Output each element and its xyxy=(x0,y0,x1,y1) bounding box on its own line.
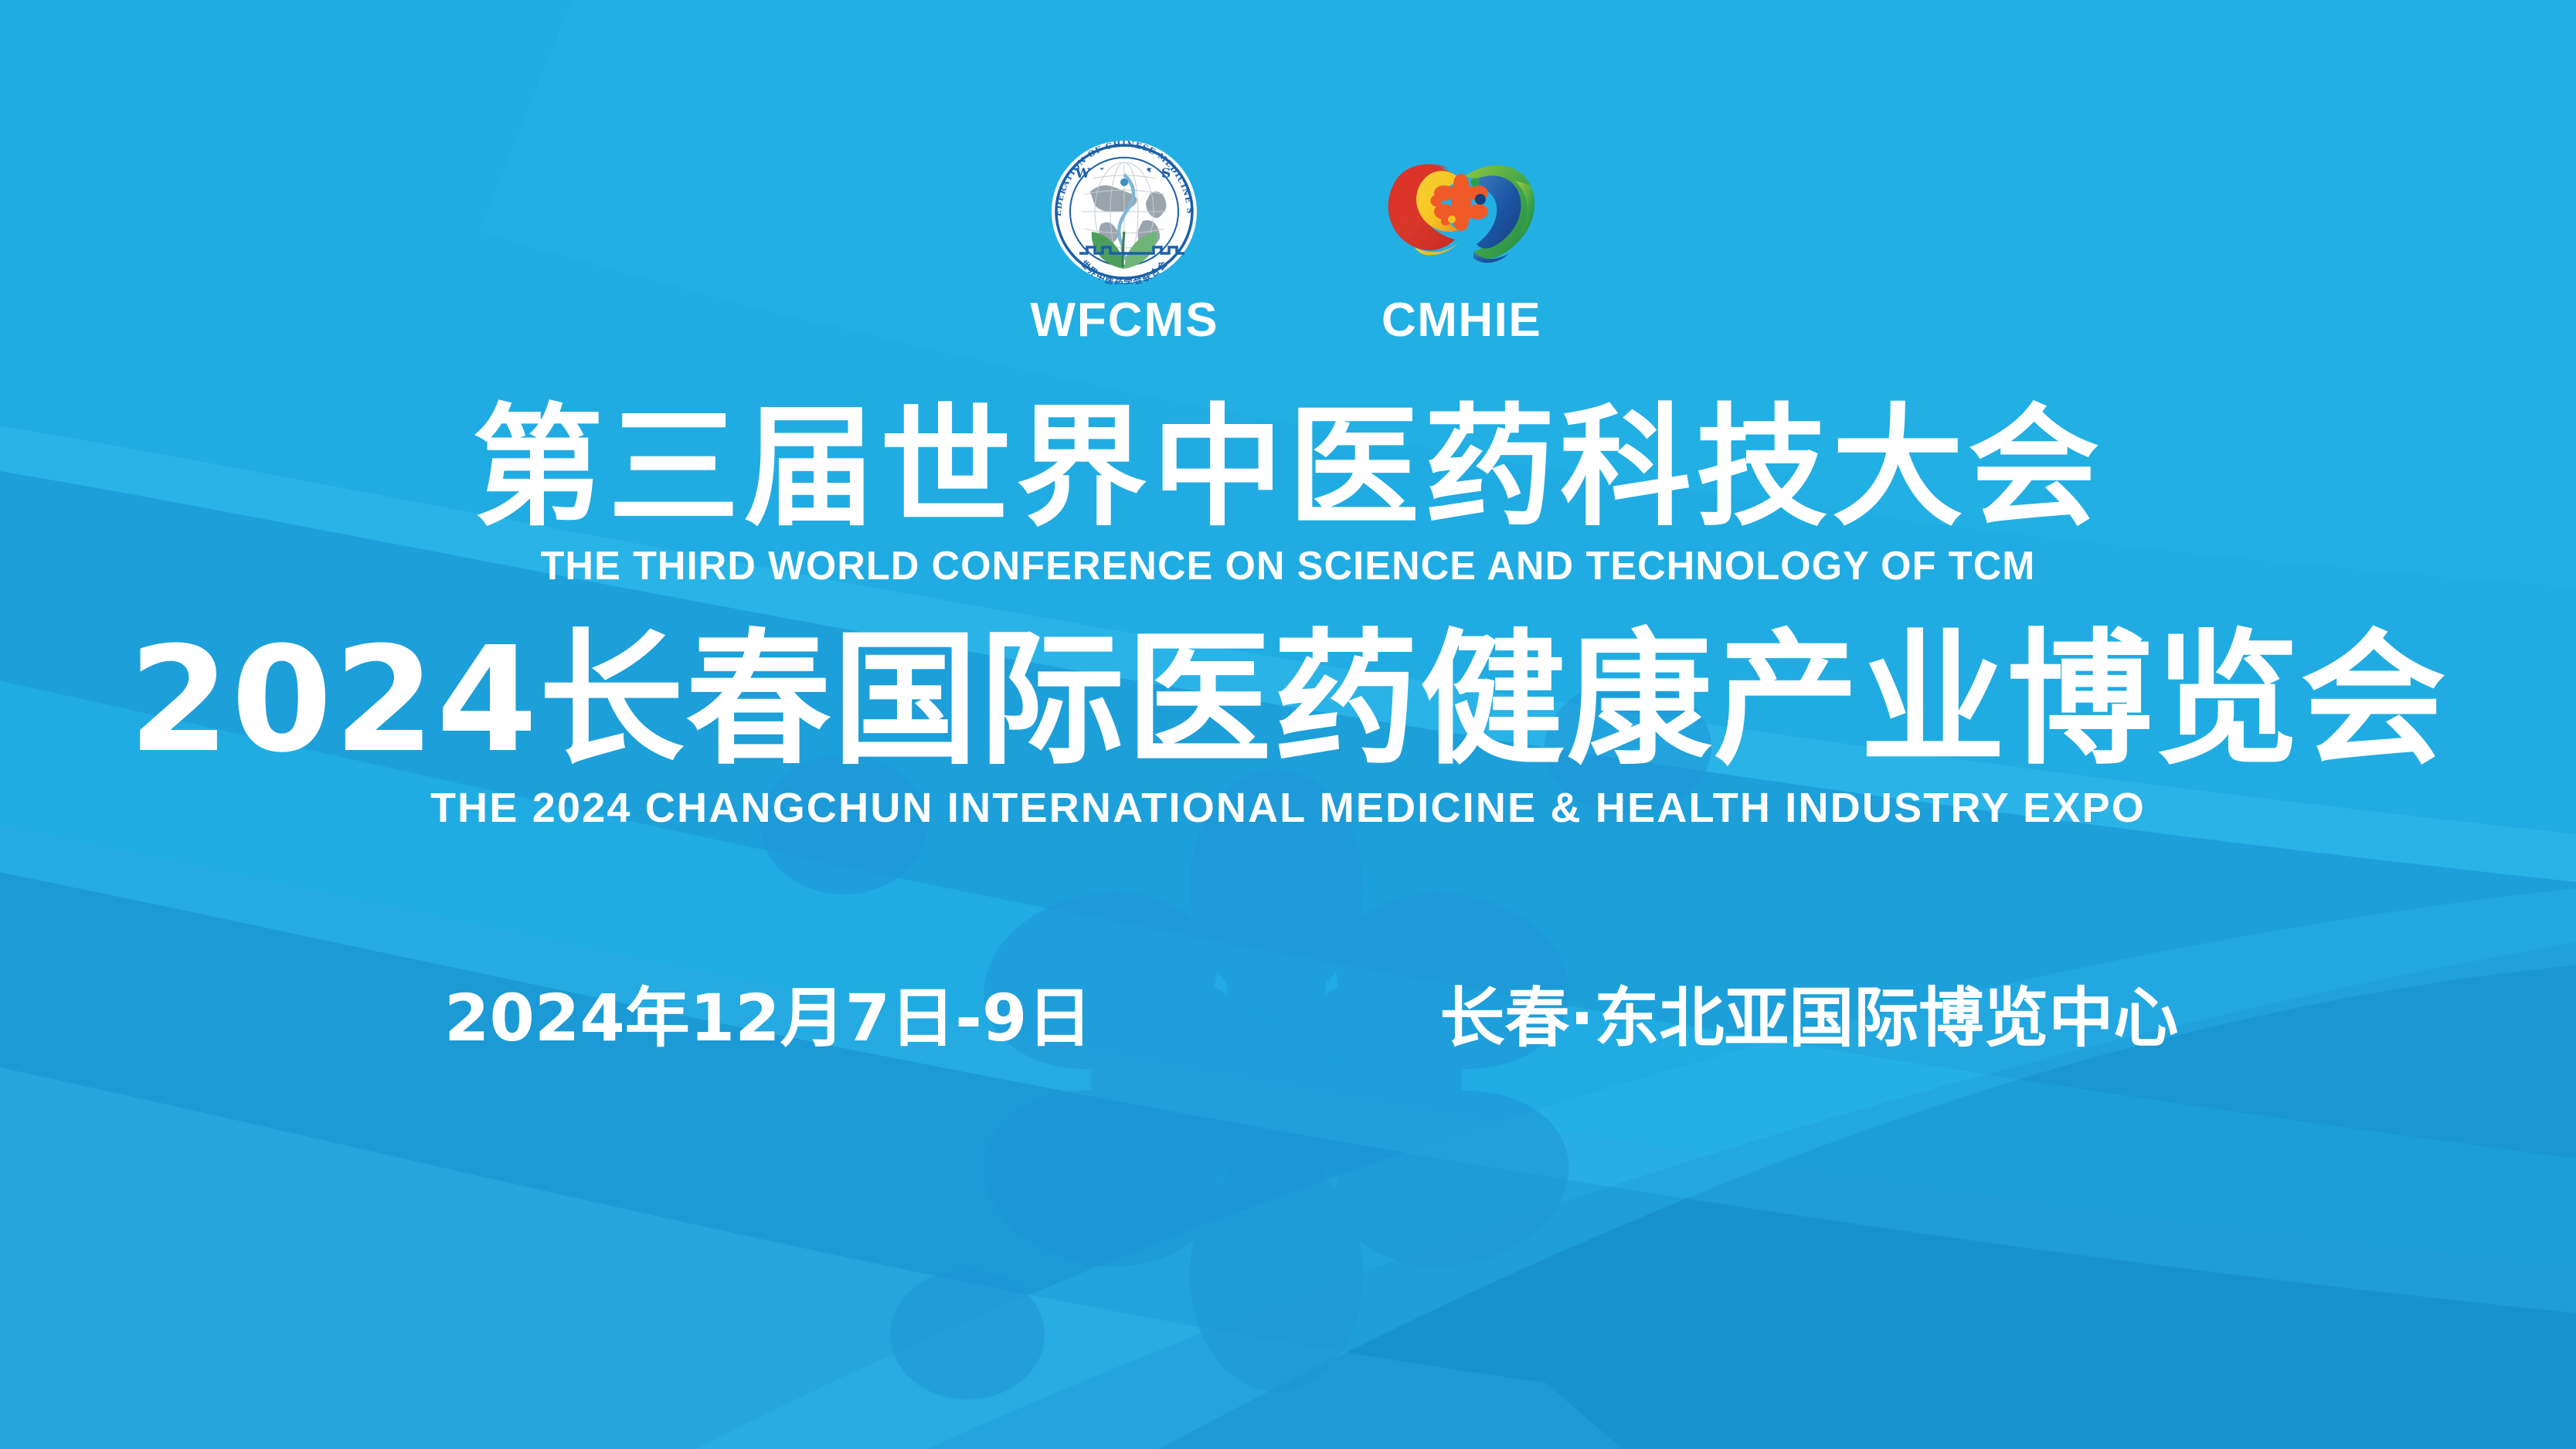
cmhie-ribbon-heart-icon xyxy=(1378,137,1546,284)
wfcms-emblem-icon: WORLD FEDERATION OF CHINESE MEDICINE SOC… xyxy=(1035,137,1214,284)
conference-title-en: THE THIRD WORLD CONFERENCE ON SCIENCE AN… xyxy=(39,546,2537,586)
event-info-row: 2024年12月7日-9日 长春·东北亚国际博览中心 xyxy=(444,986,2144,1050)
wfcms-wordmark: WFCMS xyxy=(1030,297,1218,344)
event-date: 2024年12月7日-9日 xyxy=(444,986,1092,1050)
conference-title-cn: 第三届世界中医药科技大会 xyxy=(0,402,2576,535)
cmhie-wordmark: CMHIE xyxy=(1381,297,1541,344)
logo-wfcms: WORLD FEDERATION OF CHINESE MEDICINE SOC… xyxy=(1030,137,1218,344)
event-venue: 长春·东北亚国际博览中心 xyxy=(1439,986,2178,1050)
conference-poster: WORLD FEDERATION OF CHINESE MEDICINE SOC… xyxy=(0,0,2576,1449)
expo-title-cn: 2024长春国际医药健康产业博览会 xyxy=(0,626,2576,775)
logo-row: WORLD FEDERATION OF CHINESE MEDICINE SOC… xyxy=(0,137,2576,344)
expo-title-en: THE 2024 CHANGCHUN INTERNATIONAL MEDICIN… xyxy=(0,787,2576,829)
logo-cmhie: CMHIE xyxy=(1378,137,1546,344)
title-stack: 第三届世界中医药科技大会 THE THIRD WORLD CONFERENCE … xyxy=(0,402,2576,829)
